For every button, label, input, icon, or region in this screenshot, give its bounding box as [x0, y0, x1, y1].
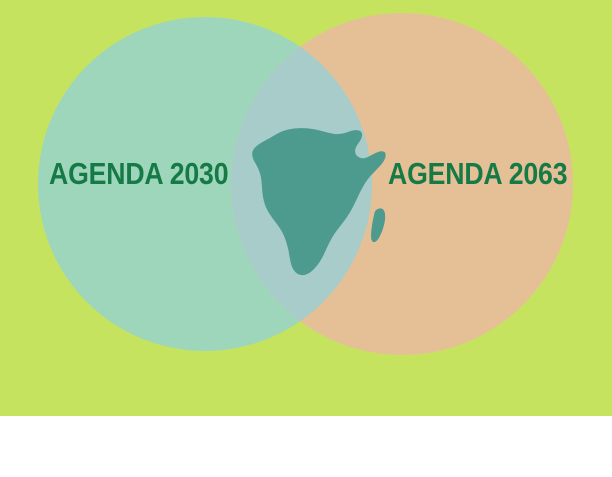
venn-label-right: AGENDA 2063 — [388, 158, 567, 189]
venn-diagram-canvas: AGENDA 2030 AGENDA 2063 — [0, 0, 612, 477]
bottom-white-strip — [0, 416, 612, 477]
venn-label-left: AGENDA 2030 — [49, 158, 228, 189]
venn-circles-graphic — [0, 0, 612, 416]
